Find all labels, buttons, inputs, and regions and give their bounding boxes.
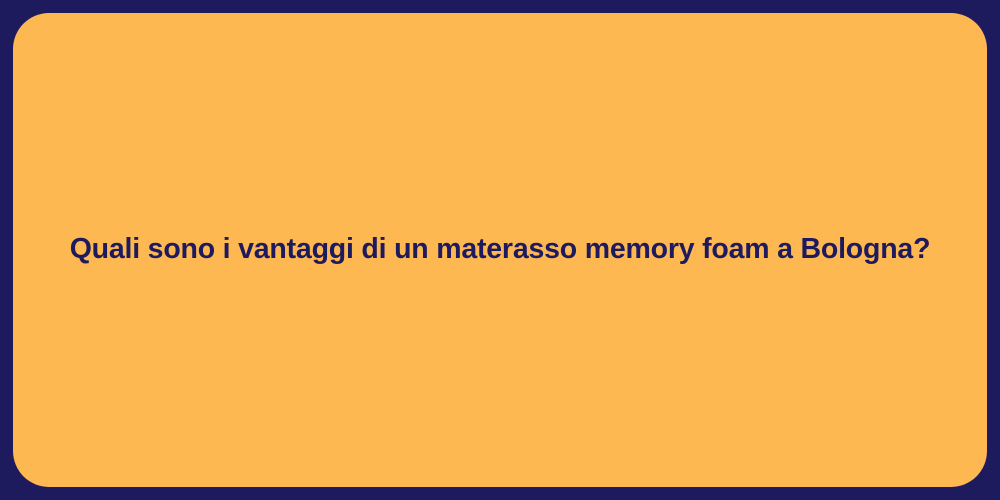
question-heading: Quali sono i vantaggi di un materasso me… xyxy=(70,232,931,268)
question-card-panel: Quali sono i vantaggi di un materasso me… xyxy=(13,13,987,487)
card-frame: Quali sono i vantaggi di un materasso me… xyxy=(0,0,1000,500)
